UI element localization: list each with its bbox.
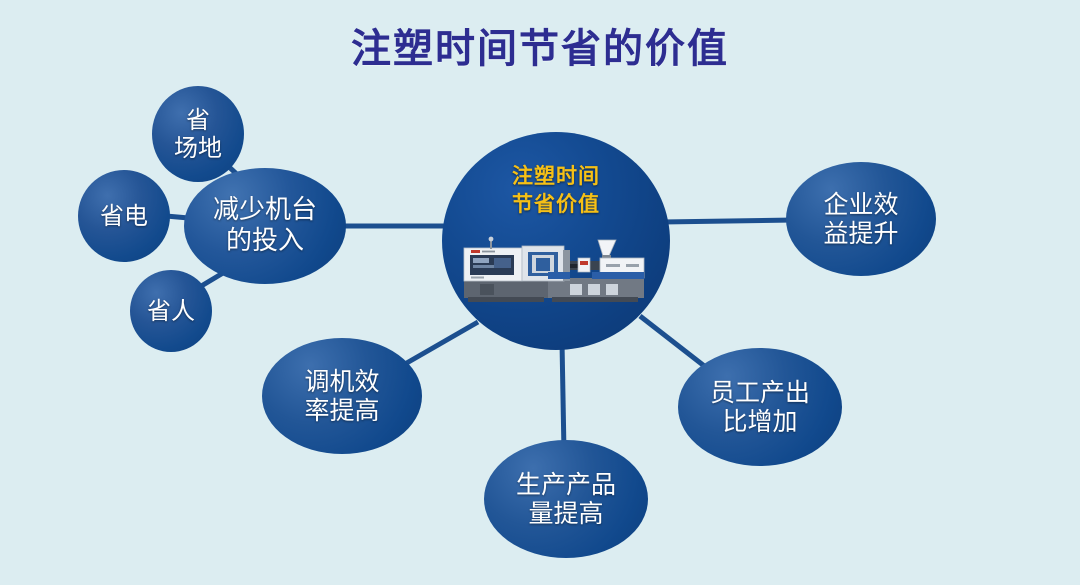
node-production-output[interactable]: 生产产品 量提高	[484, 440, 648, 558]
node-reduce-machine-investment[interactable]: 减少机台 的投入	[184, 168, 346, 284]
node-tuning-label: 调机效 率提高	[304, 367, 379, 426]
node-staff-output-ratio[interactable]: 员工产出 比增加	[678, 348, 842, 466]
edge-hub-output	[562, 342, 564, 452]
hub-label: 注塑时间 节省价值	[442, 162, 670, 219]
node-save-power[interactable]: 省电	[78, 170, 170, 262]
node-save-people[interactable]: 省人	[130, 270, 212, 352]
node-save-space[interactable]: 省 场地	[152, 86, 244, 182]
injection-molding-machine-icon	[452, 228, 660, 306]
node-space-label: 省 场地	[174, 106, 222, 163]
node-enterprise-benefit[interactable]: 企业效 益提升	[786, 162, 936, 276]
center-hub[interactable]: 注塑时间 节省价值	[442, 132, 670, 350]
node-power-label: 省电	[100, 202, 148, 230]
edge-hub-tuning	[398, 322, 478, 368]
node-output-label: 生产产品 量提高	[516, 470, 616, 529]
node-staff-label: 员工产出 比增加	[710, 378, 810, 437]
node-benefit-label: 企业效 益提升	[823, 190, 898, 249]
edge-hub-benefit	[662, 220, 794, 222]
node-machine-label: 减少机台 的投入	[213, 195, 317, 256]
diagram-canvas: 注塑时间节省的价值 省 场地 省电 省人 减少机台 的投入 企业效 益提升 调机…	[0, 0, 1080, 585]
edge-hub-staff	[640, 316, 712, 372]
node-people-label: 省人	[147, 297, 195, 325]
node-tuning-efficiency[interactable]: 调机效 率提高	[262, 338, 422, 454]
